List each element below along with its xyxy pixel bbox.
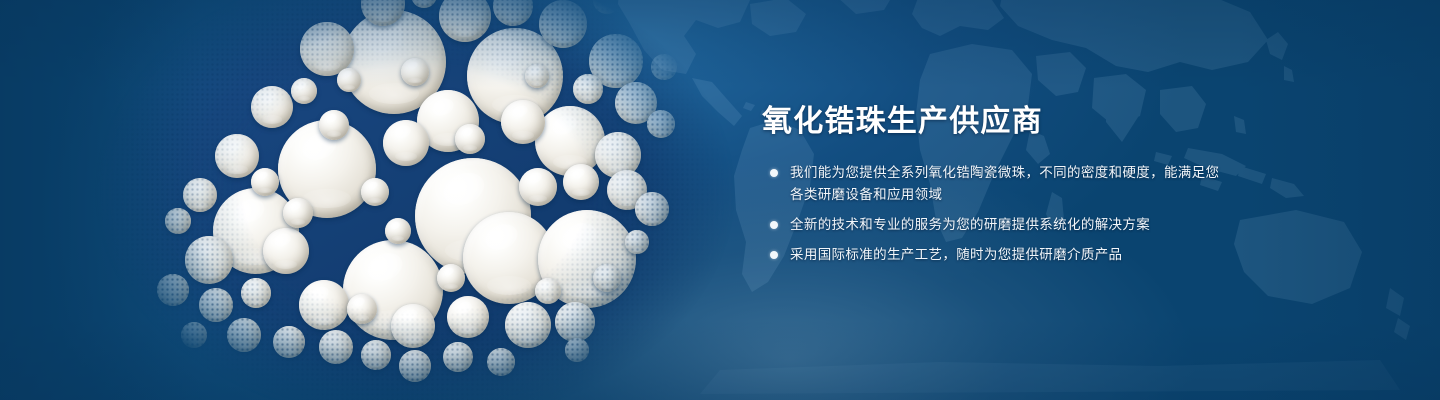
- feature-item-text: 全新的技术和专业的服务为您的研磨提供系统化的解决方案: [790, 217, 1150, 232]
- feature-item: 全新的技术和专业的服务为您的研磨提供系统化的解决方案: [762, 214, 1222, 236]
- bullet-dot-icon: [770, 251, 778, 259]
- bullet-dot-icon: [770, 169, 778, 177]
- hero-banner: 氧化锆珠生产供应商 我们能为您提供全系列氧化锆陶瓷微珠，不同的密度和硬度，能满足…: [0, 0, 1440, 400]
- banner-copy: 氧化锆珠生产供应商 我们能为您提供全系列氧化锆陶瓷微珠，不同的密度和硬度，能满足…: [762, 104, 1222, 266]
- feature-item-text: 采用国际标准的生产工艺，随时为您提供研磨介质产品: [790, 247, 1122, 262]
- background-vignette: [0, 0, 1440, 400]
- bullet-dot-icon: [770, 221, 778, 229]
- feature-item: 我们能为您提供全系列氧化锆陶瓷微珠，不同的密度和硬度，能满足您各类研磨设备和应用…: [762, 162, 1222, 206]
- banner-headline: 氧化锆珠生产供应商: [762, 104, 1222, 140]
- feature-item-text: 我们能为您提供全系列氧化锆陶瓷微珠，不同的密度和硬度，能满足您各类研磨设备和应用…: [790, 165, 1219, 202]
- banner-feature-list: 我们能为您提供全系列氧化锆陶瓷微珠，不同的密度和硬度，能满足您各类研磨设备和应用…: [762, 162, 1222, 266]
- feature-item: 采用国际标准的生产工艺，随时为您提供研磨介质产品: [762, 244, 1222, 266]
